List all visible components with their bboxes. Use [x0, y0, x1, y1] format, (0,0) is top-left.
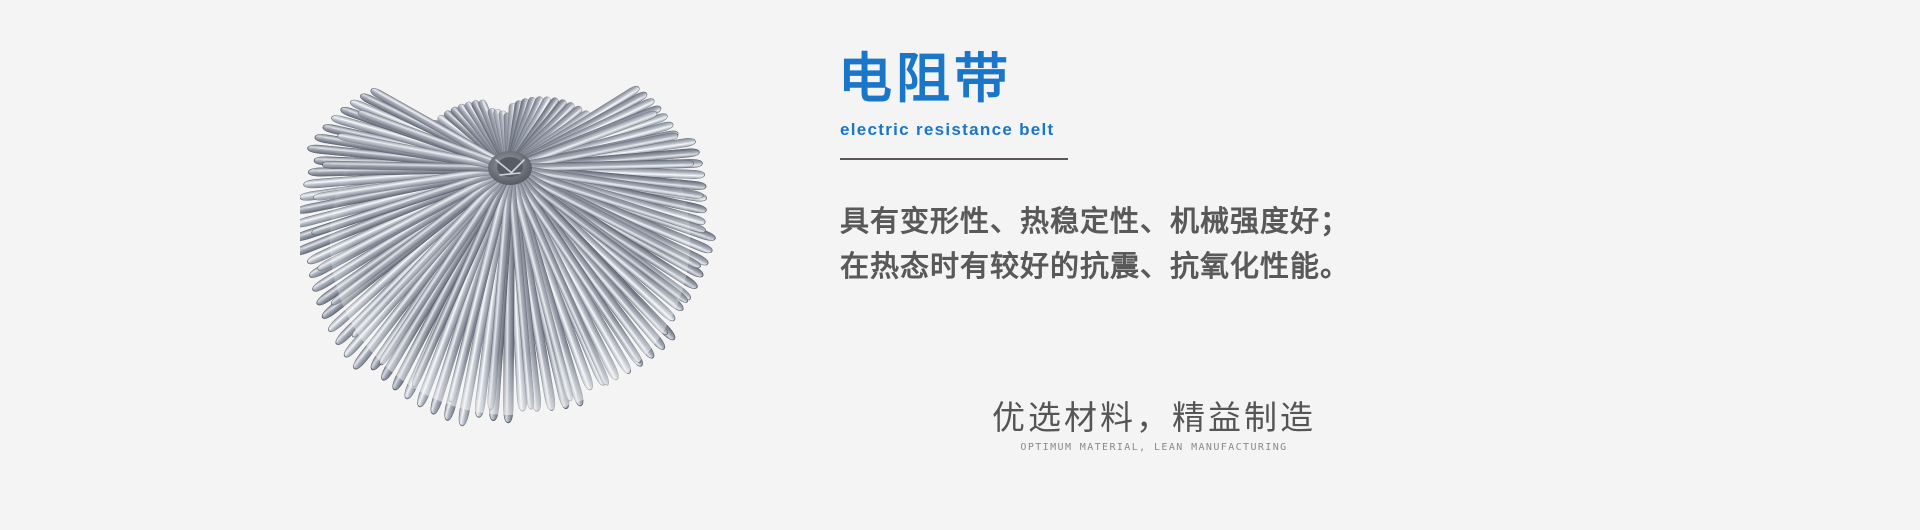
product-image — [300, 40, 720, 440]
tagline-block: 优选材料，精益制造 OPTIMUM MATERIAL, LEAN MANUFAC… — [944, 398, 1364, 456]
tagline-english: OPTIMUM MATERIAL, LEAN MANUFACTURING — [944, 440, 1364, 456]
tagline-chinese: 优选材料，精益制造 — [944, 398, 1364, 438]
text-block: 电阻带 electric resistance belt 具有变形性、热稳定性、… — [838, 48, 1538, 290]
description-line-1: 具有变形性、热稳定性、机械强度好； — [840, 200, 1538, 245]
page-subtitle: electric resistance belt — [840, 118, 1538, 142]
title-divider — [840, 158, 1068, 160]
description-block: 具有变形性、热稳定性、机械强度好； 在热态时有较好的抗震、抗氧化性能。 — [840, 200, 1538, 290]
product-banner: 电阻带 electric resistance belt 具有变形性、热稳定性、… — [0, 0, 1920, 530]
description-line-2: 在热态时有较好的抗震、抗氧化性能。 — [840, 245, 1538, 290]
page-title: 电阻带 — [838, 48, 1538, 110]
